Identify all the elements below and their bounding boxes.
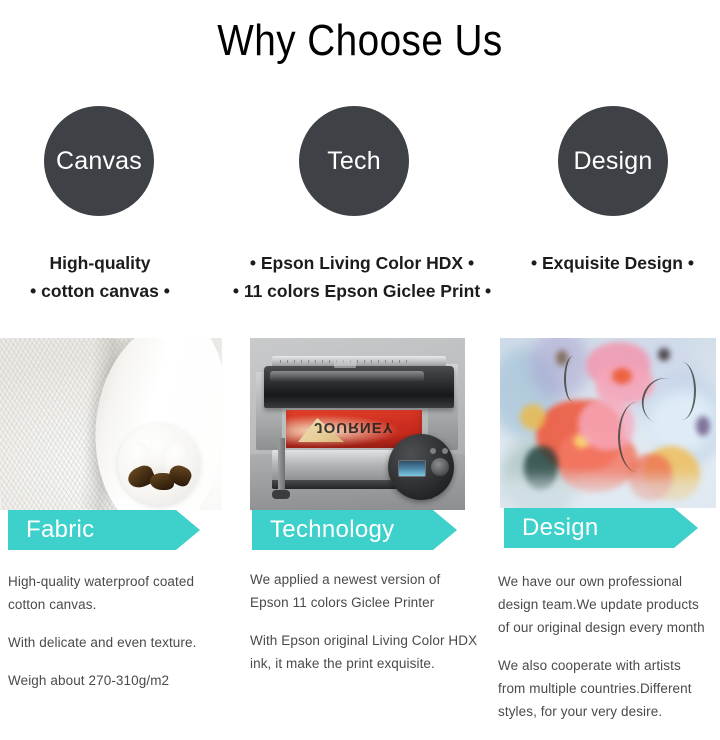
printer-illustration: JOURNEY bbox=[250, 338, 465, 510]
headline-line: High-quality bbox=[0, 249, 200, 277]
badge-circle-tech: Tech bbox=[299, 106, 409, 216]
body-copy-technology: We applied a newest version of Epson 11 … bbox=[250, 568, 478, 690]
body-paragraph: We also cooperate with artists from mult… bbox=[498, 654, 712, 723]
printer-dpad-icon bbox=[431, 458, 449, 476]
body-paragraph: With Epson original Living Color HDX ink… bbox=[250, 629, 478, 675]
photo-technology-printer: JOURNEY bbox=[250, 338, 465, 510]
banner-label: Fabric bbox=[8, 518, 94, 542]
page-title: Why Choose Us bbox=[43, 16, 677, 66]
printer-body bbox=[264, 366, 454, 408]
yellow-flower bbox=[520, 404, 546, 430]
banner-design: Design bbox=[504, 508, 698, 548]
badge-label: Design bbox=[573, 149, 652, 174]
badge-circle-row: Canvas Tech Design bbox=[0, 105, 720, 217]
cotton-boll-inset bbox=[118, 423, 200, 505]
body-paragraph: We applied a newest version of Epson 11 … bbox=[250, 568, 478, 614]
flower-center bbox=[612, 368, 632, 384]
headline-line: • cotton canvas • bbox=[0, 277, 200, 305]
body-paragraph: Weigh about 270-310g/m2 bbox=[8, 669, 230, 692]
canvas-roll-illustration bbox=[0, 338, 222, 510]
headline-tech: • Epson Living Color HDX • • 11 colors E… bbox=[212, 249, 512, 305]
printer-brand-logo bbox=[334, 360, 356, 368]
badge-circle-canvas: Canvas bbox=[44, 106, 154, 216]
printer-stand-leg bbox=[278, 438, 285, 494]
printed-artwork-text: JOURNEY bbox=[286, 419, 422, 436]
flower-stem bbox=[564, 356, 582, 402]
body-copy-design: We have our own professional design team… bbox=[498, 570, 712, 738]
printer-button-icon bbox=[442, 448, 448, 454]
flower-bud bbox=[658, 348, 670, 361]
banner-label: Design bbox=[504, 516, 599, 540]
printer-button-icon bbox=[430, 448, 436, 454]
headline-canvas: High-quality • cotton canvas • bbox=[0, 249, 200, 305]
floral-watercolor-illustration bbox=[500, 338, 716, 508]
headline-line: • 11 colors Epson Giclee Print • bbox=[212, 277, 512, 305]
photo-design-floral-painting bbox=[500, 338, 716, 508]
printer-caster bbox=[272, 490, 290, 499]
body-paragraph: We have our own professional design team… bbox=[498, 570, 712, 639]
badge-circle-design: Design bbox=[558, 106, 668, 216]
headline-design: • Exquisite Design • bbox=[505, 249, 720, 277]
badge-label: Canvas bbox=[56, 149, 142, 174]
printer-control-panel-inset bbox=[388, 434, 454, 500]
headline-line: • Exquisite Design • bbox=[505, 249, 720, 277]
flower-stem bbox=[668, 362, 696, 420]
photo-fabric-canvas-roll bbox=[0, 338, 222, 510]
body-paragraph: With delicate and even texture. bbox=[8, 631, 230, 654]
flower-bud bbox=[696, 416, 710, 436]
badge-label: Tech bbox=[327, 149, 381, 174]
banner-fabric: Fabric bbox=[8, 510, 200, 550]
banner-label: Technology bbox=[252, 518, 394, 542]
body-paragraph: High-quality waterproof coated cotton ca… bbox=[8, 570, 230, 616]
banner-technology: Technology bbox=[252, 510, 457, 550]
body-copy-fabric: High-quality waterproof coated cotton ca… bbox=[8, 570, 230, 707]
wash-blob bbox=[500, 478, 716, 508]
headline-line: • Epson Living Color HDX • bbox=[212, 249, 512, 277]
printer-lcd-screen bbox=[398, 460, 426, 477]
